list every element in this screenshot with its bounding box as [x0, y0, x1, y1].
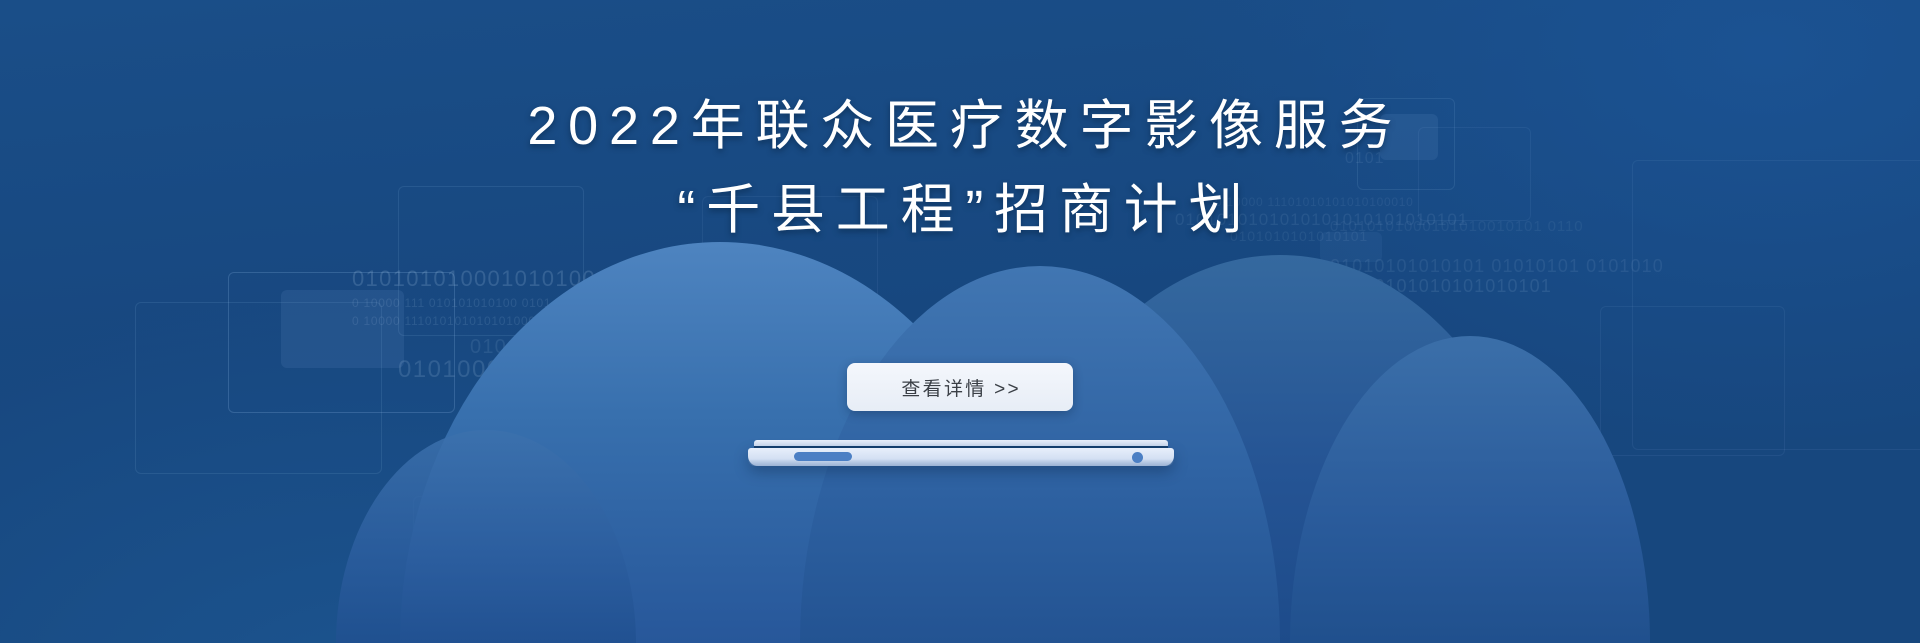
binary-line: 01010101010101 01010101 0101010 — [470, 336, 841, 359]
page-title: 2022年联众医疗数字影像服务 “千县工程”招商计划 — [0, 84, 1920, 252]
view-details-button[interactable]: 查看详情 >> — [847, 363, 1073, 411]
cloud-foreground-left — [336, 430, 636, 643]
deco-rect-bottom-left — [413, 496, 542, 571]
deco-rect-left-filled — [281, 290, 404, 368]
headline-line-1: 2022年联众医疗数字影像服务 — [0, 84, 1920, 168]
binary-line: 01010101010101010101 — [1330, 276, 1552, 297]
cloud-right — [1290, 336, 1650, 643]
laptop-base-graphic — [748, 440, 1174, 472]
headline-line-2: “千县工程”招商计划 — [0, 168, 1920, 252]
deco-rect-left-mid — [228, 272, 455, 413]
deco-rect-right-low — [1600, 306, 1785, 456]
promo-banner: 01010101000101010010101 0110 0 10000 111… — [0, 0, 1920, 643]
deco-rect-left-large — [135, 302, 382, 474]
laptop-touchpad-indicator — [794, 452, 852, 461]
binary-line: 0 10000 111 010101010100 0101 — [352, 296, 551, 310]
binary-line: 01010101010101 01010101 0101010 — [1330, 256, 1664, 277]
binary-line: 0 10000 11101010101010100010 — [352, 314, 551, 328]
laptop-status-dot-icon — [1132, 452, 1143, 463]
binary-line: 010100010101010101010 10 — [398, 356, 746, 384]
binary-line: 01010101000101010010101 0110 — [352, 266, 724, 292]
